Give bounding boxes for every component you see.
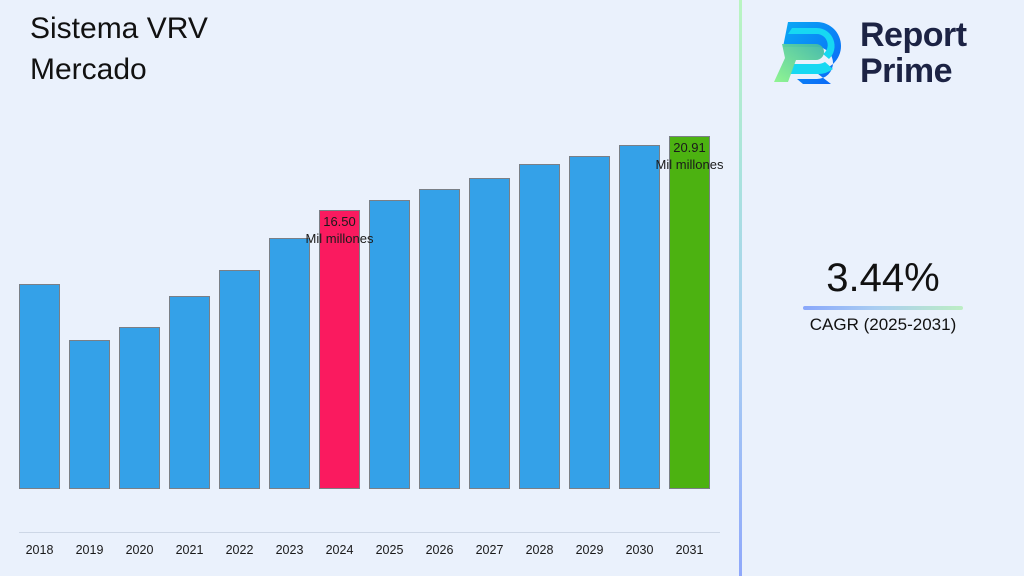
x-tick-label-2029: 2029 — [569, 543, 610, 557]
cagr-value: 3.44% — [758, 255, 1008, 301]
x-tick-label-2030: 2030 — [619, 543, 660, 557]
bar-2020 — [119, 327, 160, 489]
cagr-block: 3.44% CAGR (2025-2031) — [758, 255, 1008, 336]
brand-panel: Report Prime 3.44% CAGR (2025-2031) — [742, 0, 1024, 576]
x-tick-label-2026: 2026 — [419, 543, 460, 557]
bar-2030 — [619, 145, 660, 489]
x-tick-label-2022: 2022 — [219, 543, 260, 557]
bar-2024 — [319, 210, 360, 489]
x-tick-label-2021: 2021 — [169, 543, 210, 557]
x-tick-label-2027: 2027 — [469, 543, 510, 557]
x-tick-label-2023: 2023 — [269, 543, 310, 557]
x-tick-label-2028: 2028 — [519, 543, 560, 557]
bar-2031 — [669, 136, 710, 489]
bar-value-label-2024: 16.50 Mil millones — [260, 213, 420, 247]
bar-2029 — [569, 156, 610, 489]
chart-screenshot: Sistema VRV Mercado 20182019202020212022… — [0, 0, 1024, 576]
bar-2023 — [269, 238, 310, 489]
x-tick-label-2031: 2031 — [669, 543, 710, 557]
x-tick-label-2018: 2018 — [19, 543, 60, 557]
bar-2022 — [219, 270, 260, 489]
x-tick-label-2025: 2025 — [369, 543, 410, 557]
brand-name: Report Prime — [860, 17, 967, 89]
chart-panel: Sistema VRV Mercado 20182019202020212022… — [0, 0, 739, 576]
x-tick-label-2020: 2020 — [119, 543, 160, 557]
bar-2018 — [19, 284, 60, 489]
cagr-divider — [803, 306, 963, 310]
bar-2019 — [69, 340, 110, 489]
cagr-caption: CAGR (2025-2031) — [758, 314, 1008, 336]
bar-chart-plot-area — [0, 0, 739, 533]
bar-2021 — [169, 296, 210, 489]
x-tick-label-2019: 2019 — [69, 543, 110, 557]
bar-2027 — [469, 178, 510, 489]
report-prime-logo-icon — [772, 14, 850, 92]
bar-2026 — [419, 189, 460, 489]
x-tick-label-2024: 2024 — [319, 543, 360, 557]
bar-2028 — [519, 164, 560, 489]
report-prime-logo: Report Prime — [772, 10, 1012, 96]
x-axis-line — [19, 532, 720, 533]
